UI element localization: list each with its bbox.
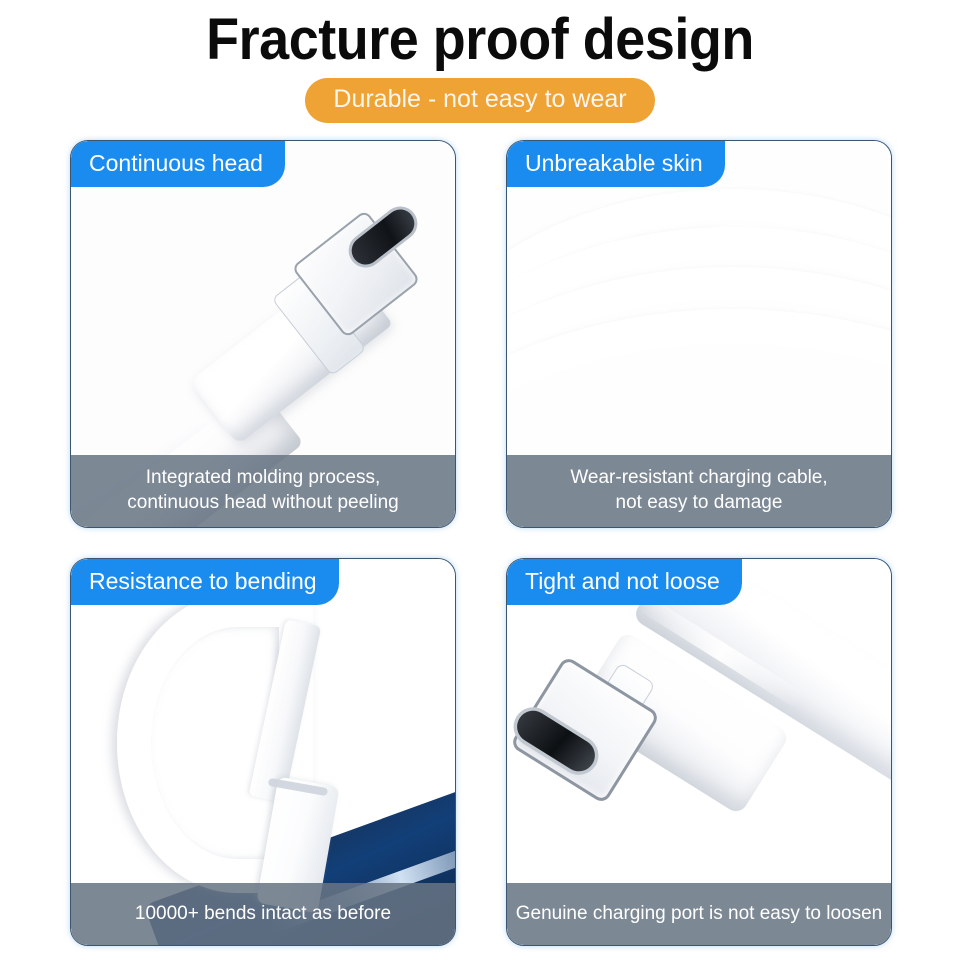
- header: Fracture proof design Durable - not easy…: [0, 0, 960, 132]
- caption-line: Genuine charging port is not easy to loo…: [513, 901, 885, 926]
- feature-card-tight-and-not-loose[interactable]: Tight and not loose Genuine charging por…: [506, 558, 892, 946]
- caption-line: not easy to damage: [515, 490, 883, 515]
- card-tab-label: Unbreakable skin: [507, 141, 725, 187]
- card-tab-label: Continuous head: [71, 141, 285, 187]
- caption-line: 10000+ bends intact as before: [77, 901, 449, 926]
- card-tab-label: Tight and not loose: [507, 559, 742, 605]
- caption-line: Integrated molding process,: [79, 465, 447, 490]
- feature-card-grid: Continuous head Integrated molding proce…: [70, 140, 892, 946]
- caption-line: continuous head without peeling: [79, 490, 447, 515]
- page-title: Fracture proof design: [34, 6, 927, 73]
- card-caption: Genuine charging port is not easy to loo…: [507, 883, 891, 945]
- feature-card-unbreakable-skin[interactable]: Unbreakable skin Wear-resistant charging…: [506, 140, 892, 528]
- subtitle-badge: Durable - not easy to wear: [305, 78, 654, 123]
- card-caption: Integrated molding process, continuous h…: [71, 455, 455, 527]
- badge-container: Durable - not easy to wear: [0, 78, 960, 123]
- card-caption: Wear-resistant charging cable, not easy …: [507, 455, 891, 527]
- card-caption: 10000+ bends intact as before: [71, 883, 455, 945]
- feature-card-resistance-to-bending[interactable]: Resistance to bending 10000+ bends intac…: [70, 558, 456, 946]
- card-tab-label: Resistance to bending: [71, 559, 339, 605]
- feature-card-continuous-head[interactable]: Continuous head Integrated molding proce…: [70, 140, 456, 528]
- caption-line: Wear-resistant charging cable,: [515, 465, 883, 490]
